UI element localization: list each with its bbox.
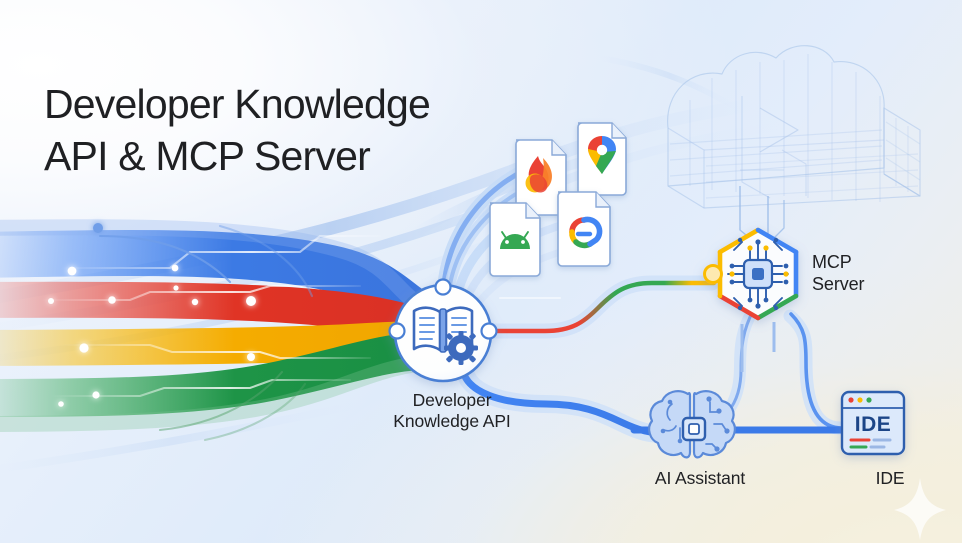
infographic-canvas: IDE Developer Knowledge API & MCP Server… (0, 0, 962, 543)
page-title: Developer Knowledge API & MCP Server (44, 78, 430, 182)
label-ide: IDE (828, 468, 952, 489)
label-ai-assistant: AI Assistant (620, 468, 780, 489)
label-developer-knowledge-api: Developer Knowledge API (352, 390, 552, 433)
label-mcp-server: MCP Server (812, 252, 942, 296)
